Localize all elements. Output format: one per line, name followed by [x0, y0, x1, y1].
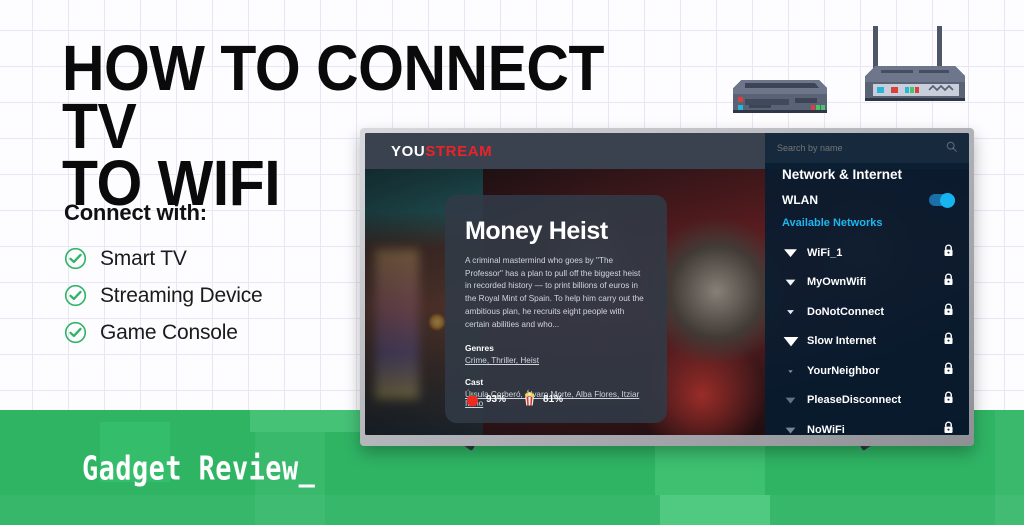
panel-title: Network & Internet [782, 167, 902, 182]
wlan-row[interactable]: WLAN [782, 193, 955, 207]
wlan-label: WLAN [782, 193, 818, 207]
list-item-label: Streaming Device [100, 284, 263, 308]
list-item[interactable]: Smart TV [64, 240, 263, 277]
network-row-slow-internet[interactable]: Slow Internet [765, 327, 969, 357]
smart-tv: YOUSTREAM Money Heist A criminal masterm… [360, 128, 974, 446]
network-row-wifi-1[interactable]: WiFi_1 [765, 238, 969, 268]
network-name: NoWiFi [807, 424, 943, 435]
network-row-nowifi[interactable]: NoWiFi [765, 415, 969, 435]
popcorn-rating-value: 81% [543, 394, 563, 405]
network-row-pleasedisconnect[interactable]: PleaseDisconnect [765, 386, 969, 416]
popcorn-rating: 81% [522, 391, 563, 407]
network-list: WiFi_1 MyOwnWifi [765, 238, 969, 435]
lock-icon [943, 332, 954, 350]
tv-bezel: YOUSTREAM Money Heist A criminal masterm… [360, 128, 974, 446]
tomato-icon [465, 392, 480, 407]
list-item[interactable]: Game Console [64, 314, 263, 351]
lock-icon [943, 244, 954, 262]
available-networks-label: Available Networks [782, 217, 882, 229]
game-console-icon [725, 66, 835, 126]
wifi-signal-icon [782, 277, 799, 287]
lock-icon [943, 362, 954, 380]
search-input[interactable] [777, 143, 946, 153]
list-item-label: Game Console [100, 321, 238, 345]
network-settings-panel: Network & Internet WLAN Available Networ… [765, 133, 969, 435]
connect-with-heading: Connect with: [64, 200, 207, 226]
genres-links: Crime, Thriller, Heist [465, 356, 539, 365]
tomato-rating-value: 93% [486, 394, 506, 405]
network-row-donotconnect[interactable]: DoNotConnect [765, 297, 969, 327]
wifi-signal-icon [782, 395, 799, 405]
wifi-signal-icon [782, 247, 799, 258]
search-icon[interactable] [946, 139, 957, 157]
network-name: Slow Internet [807, 335, 943, 347]
genres-label: Genres [465, 343, 647, 353]
network-name: PleaseDisconnect [807, 394, 943, 406]
lock-icon [943, 303, 954, 321]
check-circle-icon [64, 284, 87, 307]
search-bar[interactable] [765, 133, 969, 163]
cast-label: Cast [465, 377, 647, 387]
wifi-signal-icon [782, 335, 799, 347]
connect-with-list: Smart TV Streaming Device Game Console [64, 240, 263, 351]
wlan-toggle[interactable] [929, 194, 955, 206]
network-name: WiFi_1 [807, 247, 943, 259]
logo-text-you: YOU [391, 143, 425, 160]
lock-icon [943, 273, 954, 291]
youstream-logo[interactable]: YOUSTREAM [391, 143, 492, 160]
check-circle-icon [64, 247, 87, 270]
movie-description: A criminal mastermind who goes by "The P… [465, 255, 647, 331]
popcorn-icon [522, 391, 537, 407]
check-circle-icon [64, 321, 87, 344]
wifi-router-icon [855, 24, 975, 114]
network-name: DoNotConnect [807, 306, 943, 318]
network-row-yourneighbor[interactable]: YourNeighbor [765, 356, 969, 386]
tomato-rating: 93% [465, 392, 506, 407]
brand-logo: Gadget Review_ [82, 449, 315, 488]
list-item-label: Smart TV [100, 247, 187, 271]
wifi-signal-icon [782, 367, 799, 375]
network-name: YourNeighbor [807, 365, 943, 377]
ratings-row: 93% 81% [465, 391, 563, 407]
lock-icon [943, 391, 954, 409]
wifi-signal-icon [782, 425, 799, 435]
network-row-myownwifi[interactable]: MyOwnWifi [765, 268, 969, 298]
movie-info-card: Money Heist A criminal mastermind who go… [445, 195, 667, 423]
list-item[interactable]: Streaming Device [64, 277, 263, 314]
movie-title: Money Heist [465, 217, 647, 246]
network-name: MyOwnWifi [807, 276, 943, 288]
band-block [0, 495, 1024, 525]
genres-value[interactable]: Crime, Thriller, Heist [465, 356, 647, 365]
lock-icon [943, 421, 954, 435]
wifi-signal-icon [782, 307, 799, 316]
logo-text-stream: STREAM [425, 143, 492, 160]
tv-screen: YOUSTREAM Money Heist A criminal masterm… [365, 133, 969, 435]
